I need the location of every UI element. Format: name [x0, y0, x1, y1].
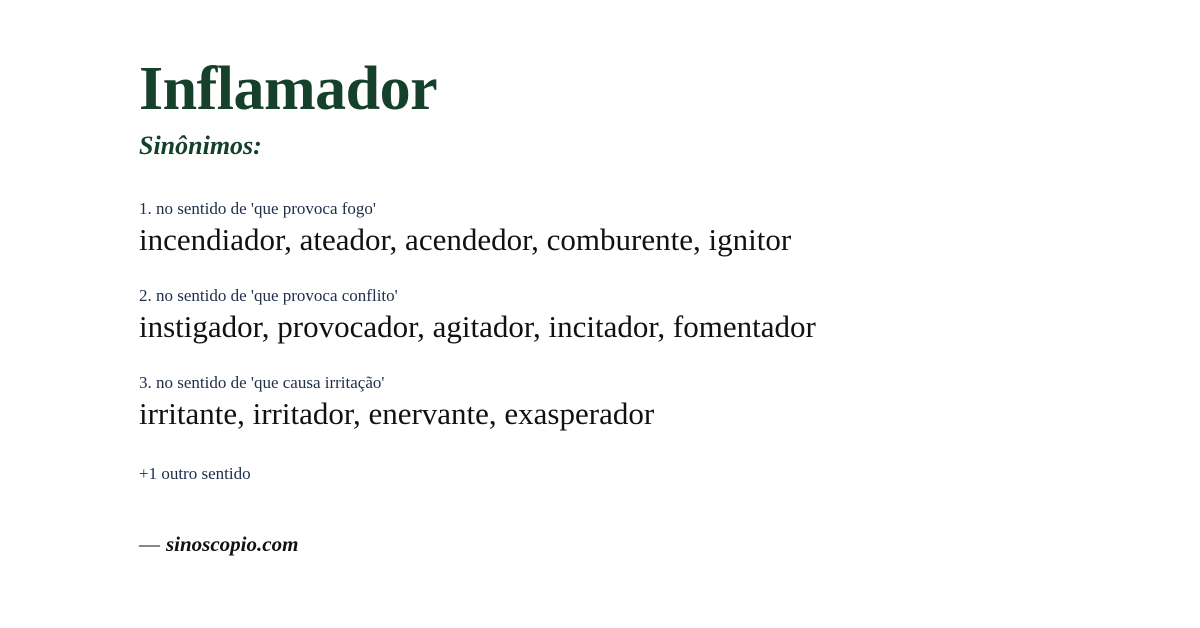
sense-entry: 1. no sentido de 'que provoca fogo' ince…	[139, 198, 1200, 260]
sense-synonyms: instigador, provocador, agitador, incita…	[139, 307, 1200, 347]
page-title: Inflamador	[139, 58, 1200, 121]
synonym-card: Inflamador Sinônimos: 1. no sentido de '…	[0, 0, 1200, 628]
sense-entry: 2. no sentido de 'que provoca conflito' …	[139, 285, 1200, 347]
synonyms-subtitle: Sinônimos:	[139, 132, 1200, 161]
sense-entry: 3. no sentido de 'que causa irritação' i…	[139, 372, 1200, 434]
more-senses-note: +1 outro sentido	[139, 463, 1200, 484]
sense-synonyms: incendiador, ateador, acendedor, combure…	[139, 220, 1200, 260]
em-dash-icon: —	[139, 532, 166, 556]
sense-label: 2. no sentido de 'que provoca conflito'	[139, 285, 1200, 306]
card-header: Inflamador Sinônimos:	[139, 0, 1200, 161]
sense-label: 1. no sentido de 'que provoca fogo'	[139, 198, 1200, 219]
sense-label: 3. no sentido de 'que causa irritação'	[139, 372, 1200, 393]
source-name: sinoscopio.com	[166, 532, 298, 556]
senses-list: 1. no sentido de 'que provoca fogo' ince…	[139, 198, 1200, 434]
source-attribution: —sinoscopio.com	[139, 532, 1200, 557]
sense-synonyms: irritante, irritador, enervante, exasper…	[139, 394, 1200, 434]
